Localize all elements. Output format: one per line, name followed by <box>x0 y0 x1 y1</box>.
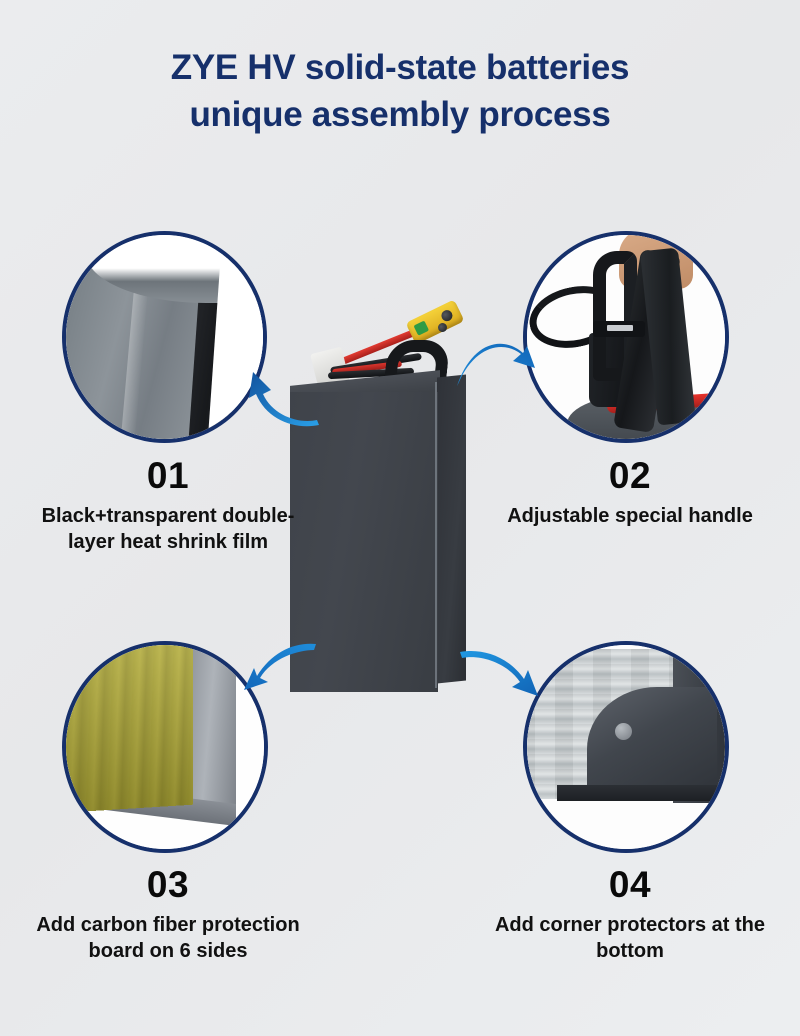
carbon-fiber-board <box>66 645 193 814</box>
pack-side-face <box>188 645 236 811</box>
feature-caption-01: 01 Black+transparent double-layer heat s… <box>8 455 328 555</box>
feature-caption-03: 03 Add carbon fiber protection board on … <box>8 864 328 964</box>
arrow-to-feature-01 <box>243 368 323 430</box>
adjustable-handle-photo <box>527 235 725 439</box>
feature-number-04: 04 <box>470 864 790 906</box>
feature-photo-circle-01 <box>62 231 267 443</box>
feature-text-01: Black+transparent double-layer heat shri… <box>8 503 328 555</box>
feature-number-01: 01 <box>8 455 328 497</box>
arrow-body <box>249 372 319 426</box>
pack-bottom-edge <box>557 785 725 801</box>
arrow-to-feature-02 <box>455 330 537 392</box>
feature-text-02: Adjustable special handle <box>470 503 790 529</box>
arrow-to-feature-03 <box>238 644 320 706</box>
feature-photo-circle-04 <box>523 641 729 853</box>
page-title: ZYE HV solid-state batteries unique asse… <box>0 44 800 138</box>
page-title-line-2: unique assembly process <box>0 91 800 138</box>
feature-caption-04: 04 Add corner protectors at the bottom <box>470 864 790 964</box>
feature-photo-circle-02 <box>523 231 729 443</box>
battery-side-face <box>437 374 466 683</box>
screw-hole <box>615 723 632 740</box>
battery-corner-edge <box>435 382 437 688</box>
feature-number-03: 03 <box>8 864 328 906</box>
arrow-to-feature-04 <box>458 648 544 710</box>
arrow-body <box>244 644 316 690</box>
carbon-fiber-board-photo <box>66 645 264 849</box>
arrow-body <box>457 344 535 386</box>
heat-shrink-film-photo <box>66 235 263 439</box>
feature-number-02: 02 <box>470 455 790 497</box>
page-title-line-1: ZYE HV solid-state batteries <box>0 44 800 91</box>
feature-caption-02: 02 Adjustable special handle <box>470 455 790 529</box>
feature-text-03: Add carbon fiber protection board on 6 s… <box>8 912 328 964</box>
corner-protector-photo <box>527 645 725 849</box>
arrow-body <box>460 651 538 696</box>
feature-text-04: Add corner protectors at the bottom <box>470 912 790 964</box>
strap-buckle <box>593 321 645 337</box>
